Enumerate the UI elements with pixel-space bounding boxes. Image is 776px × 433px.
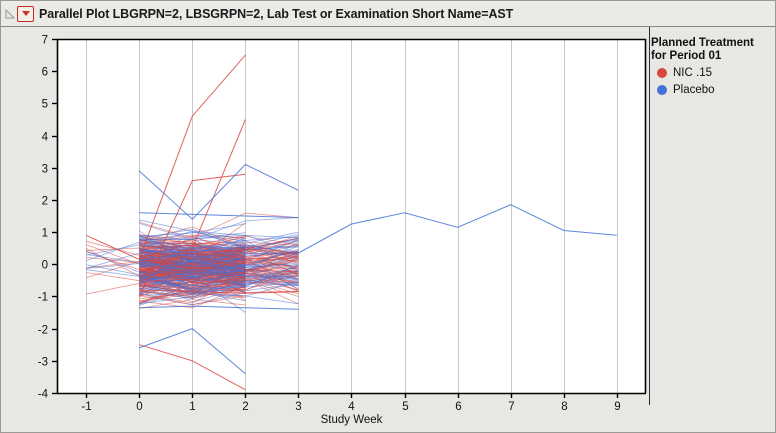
y-tick-label-7: 7 bbox=[42, 35, 48, 47]
x-tick-label-5: 5 bbox=[402, 401, 408, 413]
legend-entry-1[interactable]: Placebo bbox=[651, 82, 771, 97]
disclosure-triangle-icon[interactable] bbox=[4, 1, 16, 27]
legend: Planned Treatment for Period 01 NIC .15P… bbox=[651, 37, 771, 97]
window-title-bar: Parallel Plot LBGRPN=2, LBSGRPN=2, Lab T… bbox=[1, 1, 775, 27]
x-tick-label-4: 4 bbox=[348, 401, 355, 413]
x-axis-ticks: -10123456789 bbox=[81, 393, 620, 413]
x-tick-label-8: 8 bbox=[561, 401, 567, 413]
legend-title: Planned Treatment for Period 01 bbox=[651, 37, 761, 63]
y-tick-label-1: 1 bbox=[42, 228, 48, 240]
x-tick-label-1: 1 bbox=[189, 401, 195, 413]
parallel-plot-window: Parallel Plot LBGRPN=2, LBSGRPN=2, Lab T… bbox=[0, 0, 776, 433]
x-tick-label-3: 3 bbox=[295, 401, 301, 413]
y-tick-label-5: 5 bbox=[42, 99, 48, 111]
page-title: Parallel Plot LBGRPN=2, LBSGRPN=2, Lab T… bbox=[39, 7, 513, 21]
legend-separator bbox=[649, 27, 650, 405]
y-tick-label--2: -2 bbox=[38, 325, 48, 337]
x-tick-label-6: 6 bbox=[455, 401, 461, 413]
y-tick-label-4: 4 bbox=[42, 132, 49, 144]
x-tick-label-9: 9 bbox=[614, 401, 620, 413]
x-tick-label--1: -1 bbox=[81, 401, 91, 413]
legend-entry-label: NIC .15 bbox=[673, 67, 712, 79]
legend-title-line-1: Planned Treatment bbox=[651, 37, 761, 50]
y-tick-label--3: -3 bbox=[38, 357, 48, 369]
x-tick-label-2: 2 bbox=[242, 401, 248, 413]
red-dropdown-triangle-icon[interactable] bbox=[17, 6, 34, 22]
legend-entry-0[interactable]: NIC .15 bbox=[651, 65, 771, 80]
y-tick-label-0: 0 bbox=[42, 260, 48, 272]
y-tick-label-6: 6 bbox=[42, 67, 48, 79]
legend-marker-icon bbox=[657, 68, 667, 78]
y-tick-label--4: -4 bbox=[38, 389, 49, 401]
legend-entries: NIC .15Placebo bbox=[651, 65, 771, 97]
y-tick-label-3: 3 bbox=[42, 164, 48, 176]
dropdown-arrow-glyph bbox=[22, 11, 30, 16]
legend-title-line-2: for Period 01 bbox=[651, 50, 761, 63]
legend-marker-icon bbox=[657, 85, 667, 95]
x-axis-label: Study Week bbox=[321, 414, 383, 426]
y-axis-ticks: -4-3-2-101234567 bbox=[38, 35, 57, 401]
y-tick-label-2: 2 bbox=[42, 196, 48, 208]
legend-entry-label: Placebo bbox=[673, 84, 715, 96]
y-tick-label--1: -1 bbox=[38, 292, 48, 304]
x-tick-label-0: 0 bbox=[136, 401, 142, 413]
x-tick-label-7: 7 bbox=[508, 401, 514, 413]
chart-region: -4-3-2-101234567 -10123456789 Study Week… bbox=[1, 27, 775, 432]
